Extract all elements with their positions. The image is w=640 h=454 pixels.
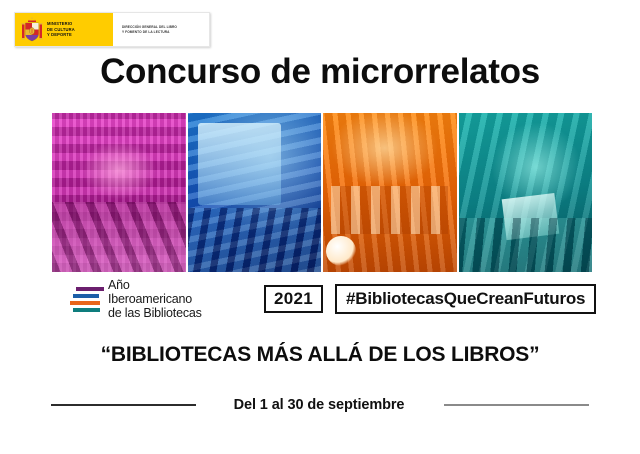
spanish-coat-of-arms-icon xyxy=(21,17,43,43)
poster-slogan: “BIBLIOTECAS MÁS ALLÁ DE LOS LIBROS” xyxy=(0,343,640,367)
hashtag-badge: #BibliotecasQueCreanFuturos xyxy=(335,284,596,315)
logo-line-1: Año xyxy=(108,278,202,292)
ministry-yellow-block: MINISTERIO DE CULTURA Y DEPORTE xyxy=(15,13,113,46)
photo-panel-reading-room xyxy=(323,113,457,272)
photo-panel-library-storytelling xyxy=(52,113,186,272)
logo-wordmark: Año Iberoamericano de las Bibliotecas xyxy=(108,278,202,320)
logo-badge-row: Año Iberoamericano de las Bibliotecas 20… xyxy=(52,279,592,319)
rule-left xyxy=(51,404,196,406)
directorate-line-1: DIRECCIÓN GENERAL DEL LIBRO xyxy=(122,25,177,30)
photo-strip xyxy=(52,113,592,272)
logo-line-2: Iberoamericano xyxy=(108,292,202,306)
ministry-name: MINISTERIO DE CULTURA Y DEPORTE xyxy=(47,21,75,38)
date-text: Del 1 al 30 de septiembre xyxy=(234,397,405,413)
photo-panel-bookmobile xyxy=(188,113,322,272)
poster-title: Concurso de microrrelatos xyxy=(0,52,640,92)
rule-right xyxy=(444,404,589,406)
date-row: Del 1 al 30 de septiembre xyxy=(0,393,640,417)
photo-panel-family-reading xyxy=(459,113,593,272)
logo-line-3: de las Bibliotecas xyxy=(108,306,202,320)
ministry-banner: MINISTERIO DE CULTURA Y DEPORTE DIRECCIÓ… xyxy=(14,12,210,47)
year-badge: 2021 xyxy=(264,285,323,314)
logo-bars-icon xyxy=(70,286,104,312)
directorate-name: DIRECCIÓN GENERAL DEL LIBRO Y FOMENTO DE… xyxy=(122,25,177,35)
ministry-line-3: Y DEPORTE xyxy=(47,32,75,38)
anio-iberoamericano-bibliotecas-logo: Año Iberoamericano de las Bibliotecas xyxy=(70,278,252,320)
directorate-block: DIRECCIÓN GENERAL DEL LIBRO Y FOMENTO DE… xyxy=(113,13,209,46)
ministry-line-1: MINISTERIO xyxy=(47,21,75,27)
directorate-line-2: Y FOMENTO DE LA LECTURA xyxy=(122,30,177,35)
